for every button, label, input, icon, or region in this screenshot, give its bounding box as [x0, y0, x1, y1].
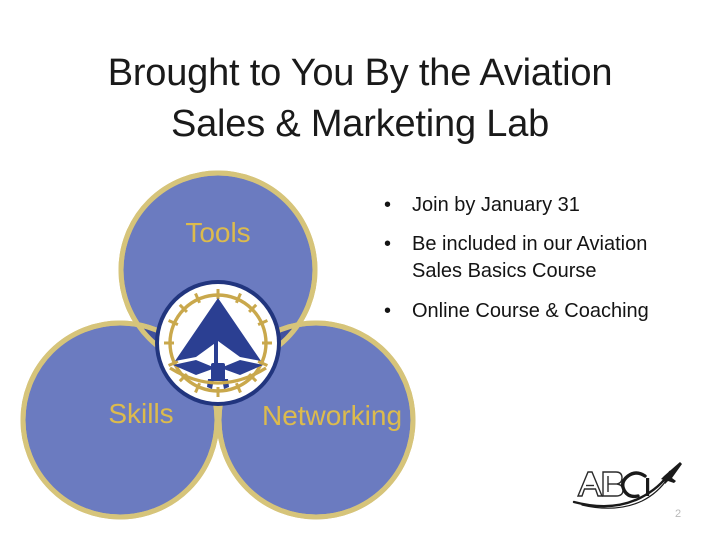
- list-item: • Online Course & Coaching: [372, 298, 672, 325]
- page-title: Brought to You By the Aviation Sales & M…: [40, 48, 680, 149]
- abci-logo-graphic: [572, 458, 684, 514]
- list-item: • Be included in our Aviation Sales Basi…: [372, 231, 672, 285]
- bullet-text: Join by January 31: [412, 194, 580, 216]
- title-line-2: Sales & Marketing Lab: [40, 99, 680, 150]
- bullet-marker: •: [384, 298, 391, 325]
- bullet-list: • Join by January 31 • Be included in ou…: [372, 192, 672, 337]
- bullet-text: Be included in our Aviation Sales Basics…: [412, 233, 647, 282]
- abci-airplane-swoosh-logo-icon: [572, 458, 684, 514]
- bullet-text: Online Course & Coaching: [412, 300, 649, 322]
- venn-diagram-graphic: [18, 165, 418, 525]
- bullet-marker: •: [384, 192, 391, 219]
- title-line-1: Brought to You By the Aviation: [40, 48, 680, 99]
- slide-canvas: Brought to You By the Aviation Sales & M…: [0, 0, 720, 540]
- list-item: • Join by January 31: [372, 192, 672, 219]
- venn-diagram: Tools Skills Networking: [18, 165, 418, 525]
- aviation-compass-airplane-logo-icon: [155, 280, 281, 406]
- page-number: 2: [666, 508, 690, 520]
- bullet-marker: •: [384, 231, 391, 258]
